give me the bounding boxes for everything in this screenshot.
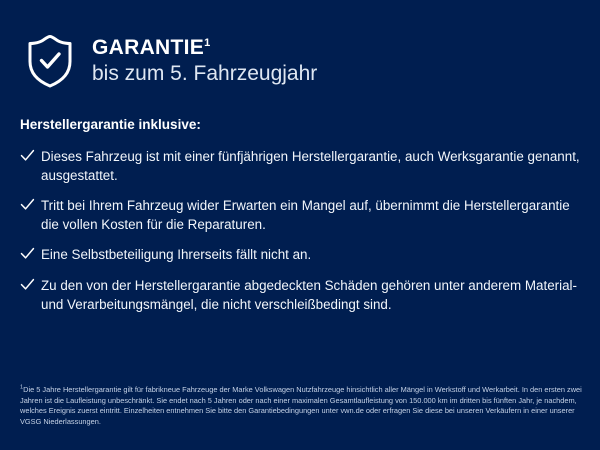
page-title-text: GARANTIE — [92, 36, 204, 59]
header: GARANTIE1 bis zum 5. Fahrzeugjahr — [0, 0, 600, 92]
list-item-label: Dieses Fahrzeug ist mit einer fünfjährig… — [39, 147, 580, 185]
garantie-card: GARANTIE1 bis zum 5. Fahrzeugjahr Herste… — [0, 0, 600, 450]
main-content: Herstellergarantie inklusive: Dieses Fah… — [0, 92, 600, 314]
footnote: 1Die 5 Jahre Herstellergarantie gilt für… — [20, 385, 586, 427]
list-item-label: Zu den von der Herstellergarantie abgede… — [39, 276, 580, 314]
footnote-paragraph: 1Die 5 Jahre Herstellergarantie gilt für… — [20, 385, 586, 427]
page-title-superscript: 1 — [204, 37, 210, 49]
check-icon — [20, 148, 39, 167]
lead-heading: Herstellergarantie inklusive: — [20, 116, 580, 134]
list-item: Dieses Fahrzeug ist mit einer fünfjährig… — [20, 147, 580, 185]
page-subtitle: bis zum 5. Fahrzeugjahr — [92, 62, 317, 86]
list-item-label: Tritt bei Ihrem Fahrzeug wider Erwarten … — [39, 196, 580, 234]
footnote-text: Die 5 Jahre Herstellergarantie gilt für … — [20, 385, 582, 426]
header-titles: GARANTIE1 bis zum 5. Fahrzeugjahr — [92, 36, 317, 87]
list-item: Eine Selbstbeteiligung Ihrerseits fällt … — [20, 245, 580, 265]
shield-check-icon — [22, 30, 78, 92]
list-item-label: Eine Selbstbeteiligung Ihrerseits fällt … — [39, 245, 311, 264]
list-item: Tritt bei Ihrem Fahrzeug wider Erwarten … — [20, 196, 580, 234]
page-title: GARANTIE1 — [92, 36, 317, 60]
list-item: Zu den von der Herstellergarantie abgede… — [20, 276, 580, 314]
check-icon — [20, 246, 39, 265]
benefits-list: Dieses Fahrzeug ist mit einer fünfjährig… — [20, 147, 580, 314]
check-icon — [20, 197, 39, 216]
check-icon — [20, 277, 39, 296]
